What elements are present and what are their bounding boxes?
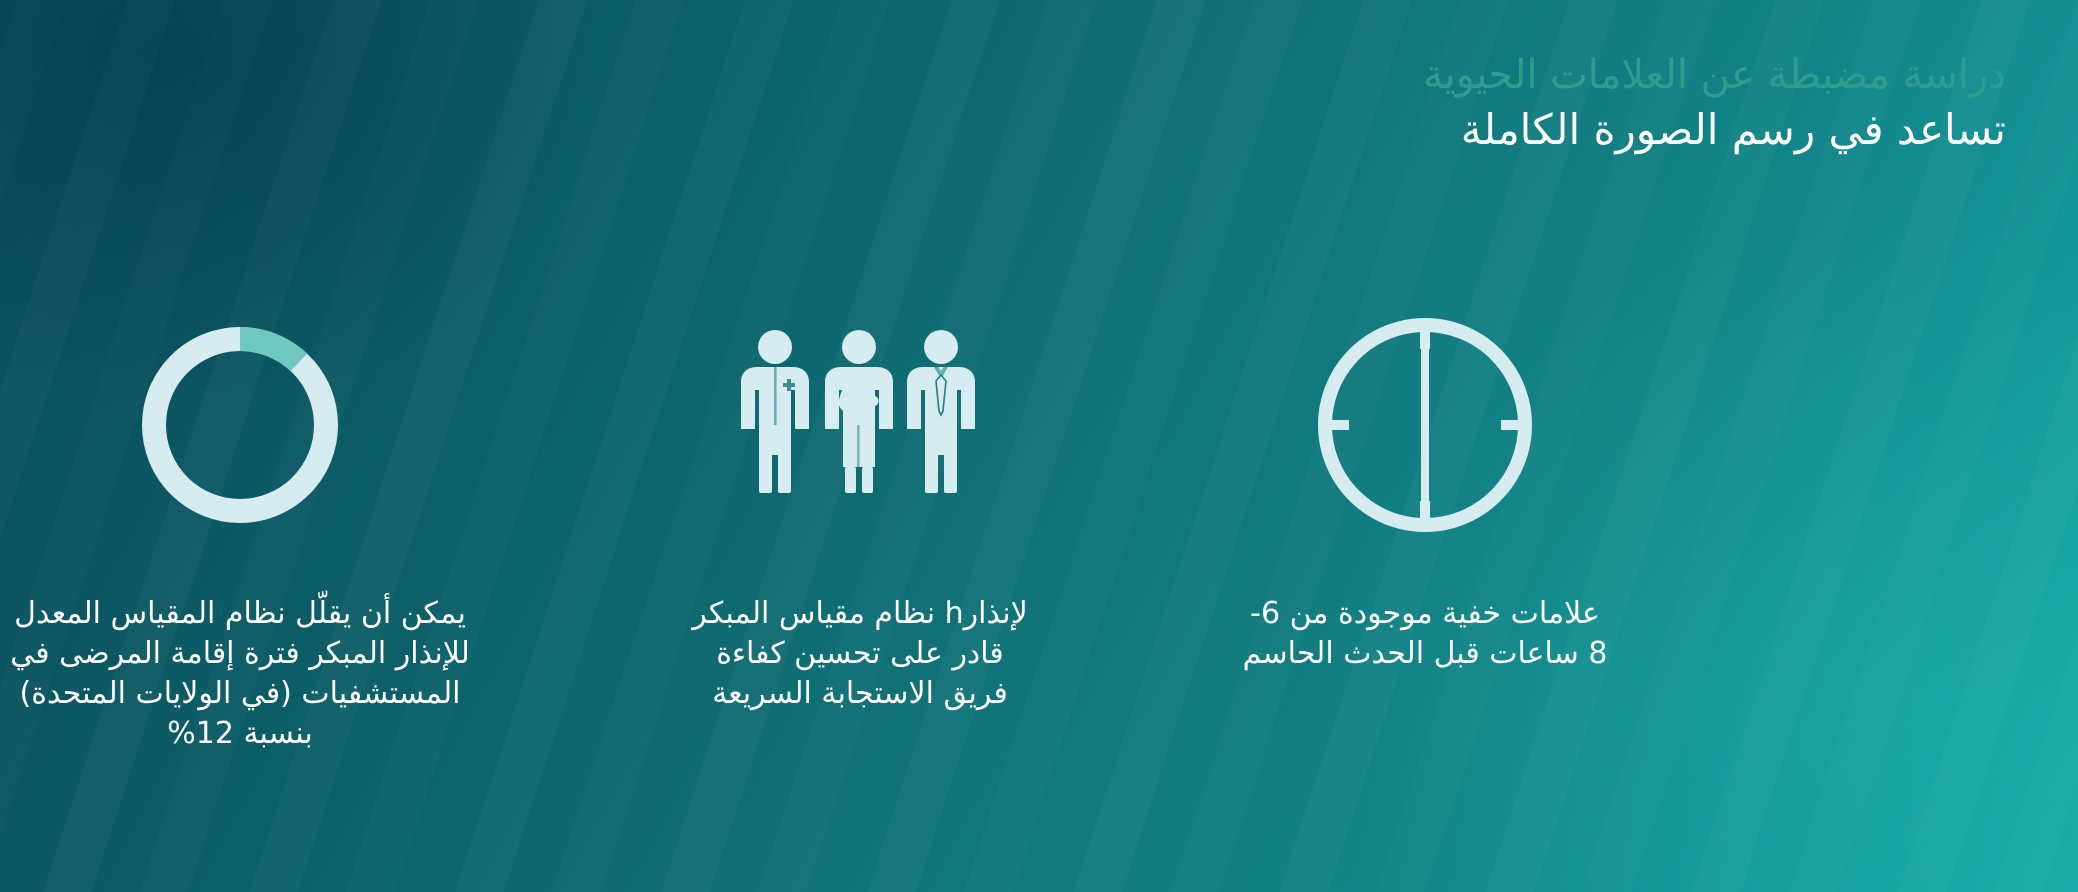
feature-caption-clock: علامات خفية موجودة من 6-8 ساعات قبل الحد…: [1243, 594, 1608, 674]
page-title: تساعد في رسم الصورة الكاملة: [766, 105, 2006, 155]
people-icon-wrap: [735, 300, 985, 550]
slide-canvas: دراسة مضبطة عن العلامات الحيوية تساعد في…: [0, 0, 2078, 892]
feature-caption-donut: يمكن أن يقلّل نظام المقياس المعدل للإنذا…: [5, 594, 475, 754]
donut-icon-wrap: [130, 300, 350, 550]
heading-block: دراسة مضبطة عن العلامات الحيوية تساعد في…: [766, 52, 2006, 156]
eyebrow-text: دراسة مضبطة عن العلامات الحيوية: [766, 52, 2006, 99]
clock-icon-wrap: [1305, 300, 1545, 550]
feature-column-donut: يمكن أن يقلّل نظام المقياس المعدل للإنذا…: [0, 300, 480, 754]
clock-icon: [1305, 305, 1545, 545]
feature-column-clock: علامات خفية موجودة من 6-8 ساعات قبل الحد…: [1185, 300, 1665, 674]
medical-team-icon: [735, 325, 985, 525]
feature-caption-people: لإنذارh نظام مقياس المبكر قادر على تحسين…: [688, 594, 1033, 714]
feature-column-people: لإنذارh نظام مقياس المبكر قادر على تحسين…: [620, 300, 1100, 714]
donut-chart-icon: [130, 315, 350, 535]
feature-columns: يمكن أن يقلّل نظام المقياس المعدل للإنذا…: [0, 300, 2078, 754]
